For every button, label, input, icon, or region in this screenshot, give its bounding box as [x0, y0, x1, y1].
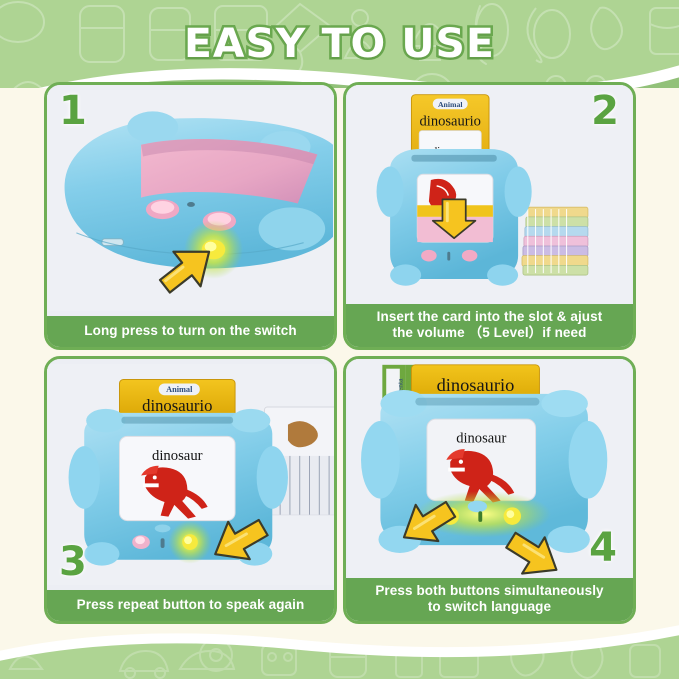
step-number-4: 4	[589, 528, 617, 568]
step-2-caption-line-2: the volume （5 Level）if need	[350, 325, 629, 341]
step-panel-4[interactable]: 4	[343, 356, 636, 624]
step-panel-1[interactable]: 1	[44, 82, 337, 350]
svg-text:dinosaur: dinosaur	[152, 448, 203, 464]
step-4-caption: Press both buttons simultaneously to swi…	[346, 578, 633, 621]
step-3-caption: Press repeat button to speak again	[47, 590, 334, 621]
device-illustration-3: Animal dinosaurio dinosaur	[47, 359, 334, 590]
step-2-caption-line-1: Insert the card into the slot & ajust	[350, 309, 629, 325]
svg-text:Animal: Animal	[438, 100, 463, 109]
infographic-root: EASY TO USE 1	[0, 0, 679, 679]
svg-text:dinosaurio: dinosaurio	[420, 114, 481, 130]
svg-text:dinosaurio: dinosaurio	[142, 396, 212, 415]
page-title: EASY TO USE	[184, 21, 495, 67]
step-panel-3[interactable]: 3	[44, 356, 337, 624]
step-2-photo: 2	[346, 85, 633, 304]
svg-text:dinosaurio: dinosaurio	[437, 375, 515, 395]
step-1-photo: 1	[47, 85, 334, 316]
steps-grid: 1	[44, 82, 636, 648]
device-illustration-2: Animal dinosaurio dinosaur	[346, 85, 633, 304]
header-banner: EASY TO USE	[0, 0, 679, 88]
step-panel-2[interactable]: 2	[343, 82, 636, 350]
step-4-photo: 4	[346, 359, 633, 578]
pointer-arrow-icon-1	[151, 237, 223, 301]
step-number-2: 2	[591, 91, 619, 131]
svg-text:Animal: Animal	[166, 385, 193, 394]
step-2-caption: Insert the card into the slot & ajust th…	[346, 304, 633, 347]
step-4-caption-line-1: Press both buttons simultaneously	[350, 583, 629, 599]
svg-text:dinosaur: dinosaur	[456, 430, 506, 446]
step-3-photo: 3	[47, 359, 334, 590]
step-number-1: 1	[59, 91, 87, 131]
step-1-caption: Long press to turn on the switch	[47, 316, 334, 347]
step-number-3: 3	[59, 542, 87, 582]
step-4-caption-line-2: to switch language	[350, 599, 629, 615]
